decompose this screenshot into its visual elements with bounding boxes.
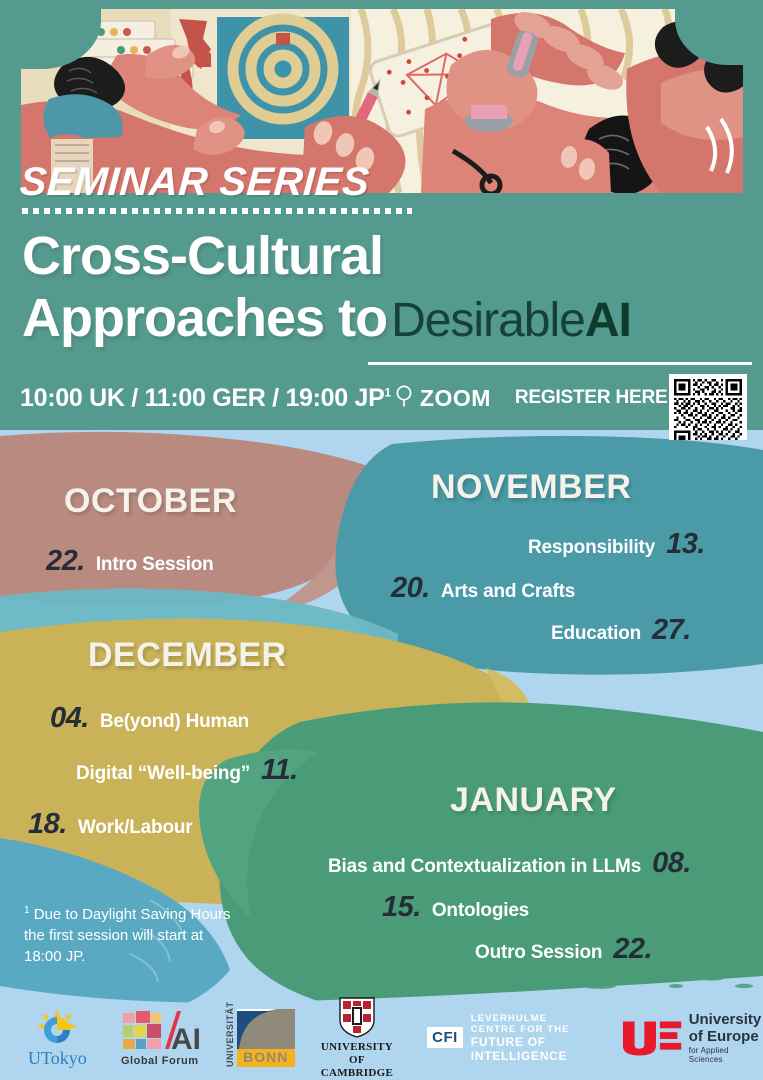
month-heading-october: OCTOBER bbox=[64, 482, 237, 521]
logo-universitaet-bonn: UNIVERSITÄT BONN bbox=[225, 1009, 295, 1067]
session-day: 08. bbox=[652, 847, 691, 880]
poster-root: SEMINAR SERIES Cross-Cultural Approaches… bbox=[0, 0, 763, 1080]
session-day: 15. bbox=[382, 891, 421, 924]
bgf-wordmark: Global Forum bbox=[121, 1055, 199, 1067]
session-label: Intro Session bbox=[96, 554, 214, 576]
logo-utokyo: UTokyo bbox=[28, 1007, 87, 1069]
session-row-dec-18: 18. Work/Labour bbox=[28, 808, 192, 841]
session-row-nov-27: Education 27. bbox=[551, 614, 691, 647]
session-row-nov-20: 20. Arts and Crafts bbox=[391, 572, 575, 605]
logo-university-of-europe: University of Europe for Applied Science… bbox=[621, 1011, 763, 1064]
footnote: 1 Due to Daylight Saving Hours the first… bbox=[24, 900, 244, 967]
qr-code-image bbox=[674, 379, 742, 440]
register-label: REGISTER HERE: bbox=[515, 387, 674, 409]
header-band: SEMINAR SERIES Cross-Cultural Approaches… bbox=[0, 0, 763, 440]
session-day: 04. bbox=[50, 702, 89, 735]
session-label: Work/Labour bbox=[78, 817, 193, 839]
utokyo-wordmark: UTokyo bbox=[28, 1048, 87, 1069]
bgf-mark-icon: AI bbox=[121, 1009, 199, 1053]
cambridge-wordmark: UNIVERSITY OF CAMBRIDGE bbox=[321, 1041, 393, 1080]
session-day: 11. bbox=[261, 754, 298, 787]
session-day: 20. bbox=[391, 572, 430, 605]
session-row-oct-22: 22. Intro Session bbox=[46, 545, 214, 578]
dotted-divider bbox=[22, 208, 412, 214]
brand-bold: AI bbox=[585, 294, 631, 347]
logo-cambridge: UNIVERSITY OF CAMBRIDGE bbox=[321, 996, 393, 1080]
logo-cfi: CFI LEVERHULME CENTRE FOR THE FUTURE OF … bbox=[427, 1013, 585, 1063]
bonn-vertical-label: UNIVERSITÄT bbox=[225, 1013, 235, 1067]
session-row-jan-08: Bias and Contextualization in LLMs 08. bbox=[328, 847, 691, 880]
platform-label: ZOOM bbox=[420, 385, 491, 412]
month-heading-november: NOVEMBER bbox=[431, 468, 631, 507]
cfi-line-2: FUTURE OF INTELLIGENCE bbox=[471, 1035, 586, 1063]
ue-line-1: University bbox=[689, 1011, 763, 1028]
session-label: Bias and Contextualization in LLMs bbox=[328, 856, 641, 878]
ue-line-3: for Applied Sciences bbox=[689, 1046, 763, 1064]
session-day: 22. bbox=[46, 545, 85, 578]
cfi-badge: CFI bbox=[427, 1027, 463, 1048]
session-label: Digital “Well-being” bbox=[76, 763, 250, 785]
session-day: 13. bbox=[666, 528, 705, 561]
month-heading-december: DECEMBER bbox=[88, 636, 287, 675]
title-line-2-row: Approaches to DesirableAI bbox=[22, 287, 752, 352]
session-row-dec-11: Digital “Well-being” 11. bbox=[76, 754, 298, 787]
bonn-shield-icon bbox=[237, 1009, 295, 1049]
bonn-wordmark: BONN bbox=[243, 1049, 288, 1065]
cambridge-line-2: CAMBRIDGE bbox=[321, 1067, 393, 1080]
title-line-1: Cross-Cultural bbox=[22, 225, 752, 287]
session-label: Ontologies bbox=[432, 900, 529, 922]
times-footnote-marker: 1 bbox=[385, 385, 391, 399]
session-row-jan-15: 15. Ontologies bbox=[382, 891, 529, 924]
session-label: Be(yond) Human bbox=[100, 711, 249, 733]
session-label: Arts and Crafts bbox=[441, 581, 575, 603]
session-label: Outro Session bbox=[475, 942, 602, 964]
ue-mark-icon bbox=[621, 1019, 681, 1057]
page-title: Cross-Cultural Approaches to DesirableAI bbox=[22, 225, 752, 352]
session-label: Education bbox=[551, 623, 641, 645]
brand-light: Desirable bbox=[391, 294, 585, 347]
ue-line-2: of Europe bbox=[689, 1028, 763, 1045]
info-row: 10:00 UK / 11:00 GER / 19:00 JP1 ZOOM RE… bbox=[20, 380, 760, 416]
logo-strip: UTokyo AI Global Forum UNIVERSITÄT bbox=[0, 995, 763, 1080]
logo-b-global-forum: AI Global Forum bbox=[121, 1009, 199, 1067]
session-day: 22. bbox=[613, 933, 652, 966]
session-day: 27. bbox=[652, 614, 691, 647]
session-day: 18. bbox=[28, 808, 67, 841]
qr-code[interactable] bbox=[669, 374, 747, 440]
month-heading-january: JANUARY bbox=[450, 781, 617, 820]
session-row-nov-13: Responsibility 13. bbox=[528, 528, 705, 561]
title-line-2: Approaches to bbox=[22, 287, 387, 349]
header-rule bbox=[368, 362, 752, 365]
session-label: Responsibility bbox=[528, 537, 655, 559]
cambridge-line-1: UNIVERSITY OF bbox=[321, 1041, 393, 1067]
footnote-text: Due to Daylight Saving Hours the first s… bbox=[24, 906, 231, 965]
ue-wordmark: University of Europe for Applied Science… bbox=[689, 1011, 763, 1064]
location-pin-icon bbox=[394, 384, 414, 413]
brand-logotype: DesirableAI bbox=[391, 290, 631, 352]
cambridge-crest-icon bbox=[338, 996, 376, 1038]
kicker-seminar-series: SEMINAR SERIES bbox=[18, 160, 370, 205]
session-times: 10:00 UK / 11:00 GER / 19:00 JP1 bbox=[20, 384, 391, 413]
session-row-jan-22: Outro Session 22. bbox=[475, 933, 652, 966]
utokyo-mark-icon bbox=[34, 1007, 80, 1047]
cfi-line-1: LEVERHULME CENTRE FOR THE bbox=[471, 1013, 586, 1035]
svg-text:AI: AI bbox=[171, 1023, 199, 1053]
session-row-dec-04: 04. Be(yond) Human bbox=[50, 702, 249, 735]
